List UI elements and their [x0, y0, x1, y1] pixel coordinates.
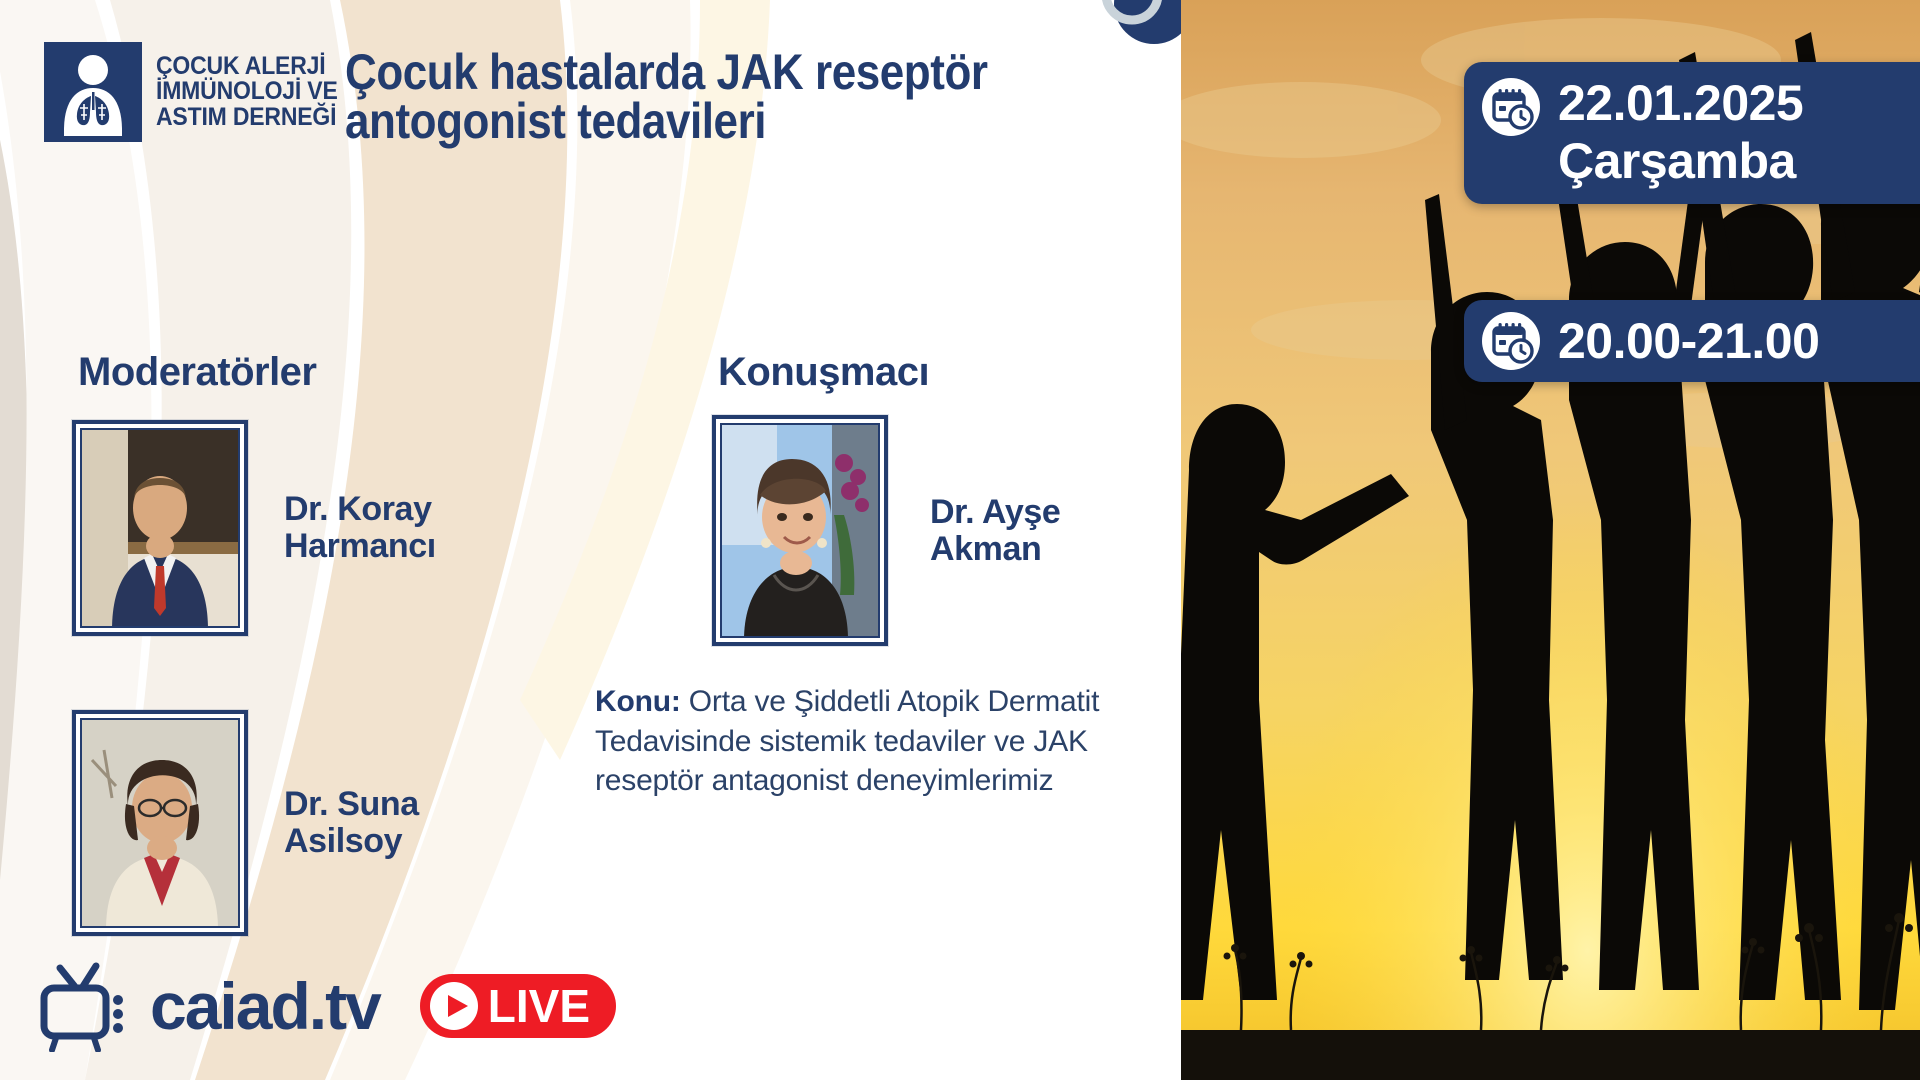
photo-frame-inner [720, 423, 880, 638]
event-date: 22.01.2025 [1558, 78, 1803, 128]
event-day: Çarşamba [1558, 136, 1803, 186]
date-badge: 22.01.2025 Çarşamba [1464, 62, 1920, 204]
photo-frame-inner [80, 718, 240, 928]
photo-frame [712, 415, 888, 646]
avatar [82, 430, 240, 628]
photo-frame [72, 710, 248, 936]
webinar-poster: ÇOCUK ALERJİ İMMÜNOLOJİ VE ASTIM DERNEĞİ… [0, 0, 1920, 1080]
moderator-name-1: Dr. Koray Harmancı [284, 491, 436, 564]
logo-wordmark: ÇOCUK ALERJİ İMMÜNOLOJİ VE ASTIM DERNEĞİ [156, 54, 353, 131]
calendar-clock-icon [1482, 312, 1540, 370]
poster-title: Çocuk hastalarda JAK reseptör antogonist… [345, 48, 1058, 145]
event-time: 20.00-21.00 [1558, 316, 1819, 366]
photo-frame-inner [80, 428, 240, 628]
association-logo: ÇOCUK ALERJİ İMMÜNOLOJİ VE ASTIM DERNEĞİ [44, 42, 353, 142]
speaker-name: Dr. Ayşe Akman [930, 494, 1060, 567]
brand-name: caiad.tv [150, 973, 380, 1039]
time-badge: 20.00-21.00 [1464, 300, 1920, 382]
speaker-card: Dr. Ayşe Akman [712, 415, 1060, 646]
moderator-card-2: Dr. Suna Asilsoy [72, 710, 419, 936]
logo-line-2: İMMÜNOLOJİ VE [156, 79, 338, 105]
speaker-heading: Konuşmacı [718, 350, 929, 395]
logo-line-3: ASTIM DERNEĞİ [156, 105, 338, 131]
avatar [722, 425, 880, 638]
live-label: LIVE [488, 983, 590, 1029]
moderator-card-1: Dr. Koray Harmancı [72, 420, 436, 636]
calendar-clock-icon [1482, 78, 1540, 136]
logo-line-1: ÇOCUK ALERJİ [156, 54, 338, 80]
date-badge-text: 22.01.2025 Çarşamba [1558, 78, 1803, 186]
television-icon [36, 960, 132, 1052]
ring-circle-decoration [1098, 0, 1181, 60]
moderators-heading: Moderatörler [78, 350, 317, 395]
time-badge-text: 20.00-21.00 [1558, 316, 1819, 366]
person-lungs-icon [44, 42, 142, 142]
moderator-name-2: Dr. Suna Asilsoy [284, 786, 419, 859]
play-icon [430, 982, 478, 1030]
topic-description: Konu: Orta ve Şiddetli Atopik Dermatit T… [595, 682, 1181, 801]
brand-footer: caiad.tv LIVE [36, 960, 616, 1052]
live-badge[interactable]: LIVE [420, 974, 616, 1038]
topic-label: Konu: [595, 685, 681, 718]
avatar [82, 720, 240, 928]
photo-frame [72, 420, 248, 636]
left-content-panel: ÇOCUK ALERJİ İMMÜNOLOJİ VE ASTIM DERNEĞİ… [0, 0, 1181, 1080]
